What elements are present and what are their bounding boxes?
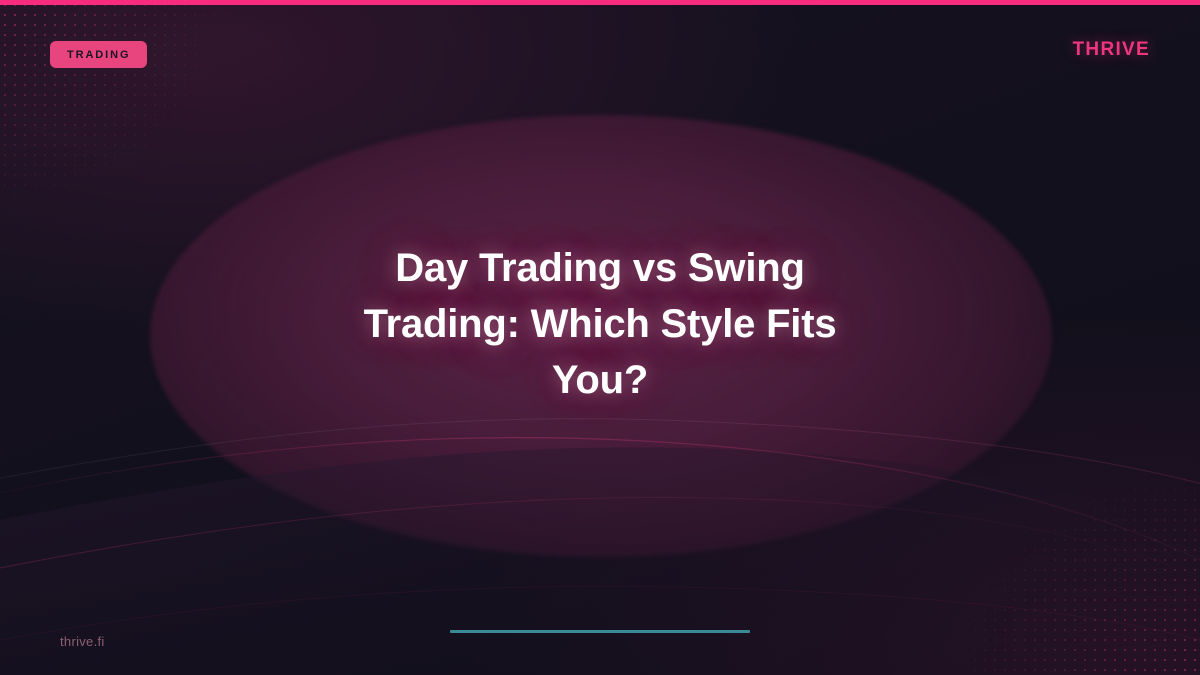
title-container: Day Trading vs Swing Trading: Which Styl… bbox=[0, 0, 1200, 675]
bottom-accent-line bbox=[450, 630, 750, 633]
slide-canvas: TRADING THRIVE Day Trading vs Swing Trad… bbox=[0, 0, 1200, 675]
site-url-label: thrive.fi bbox=[60, 634, 105, 649]
page-title: Day Trading vs Swing Trading: Which Styl… bbox=[340, 240, 860, 408]
